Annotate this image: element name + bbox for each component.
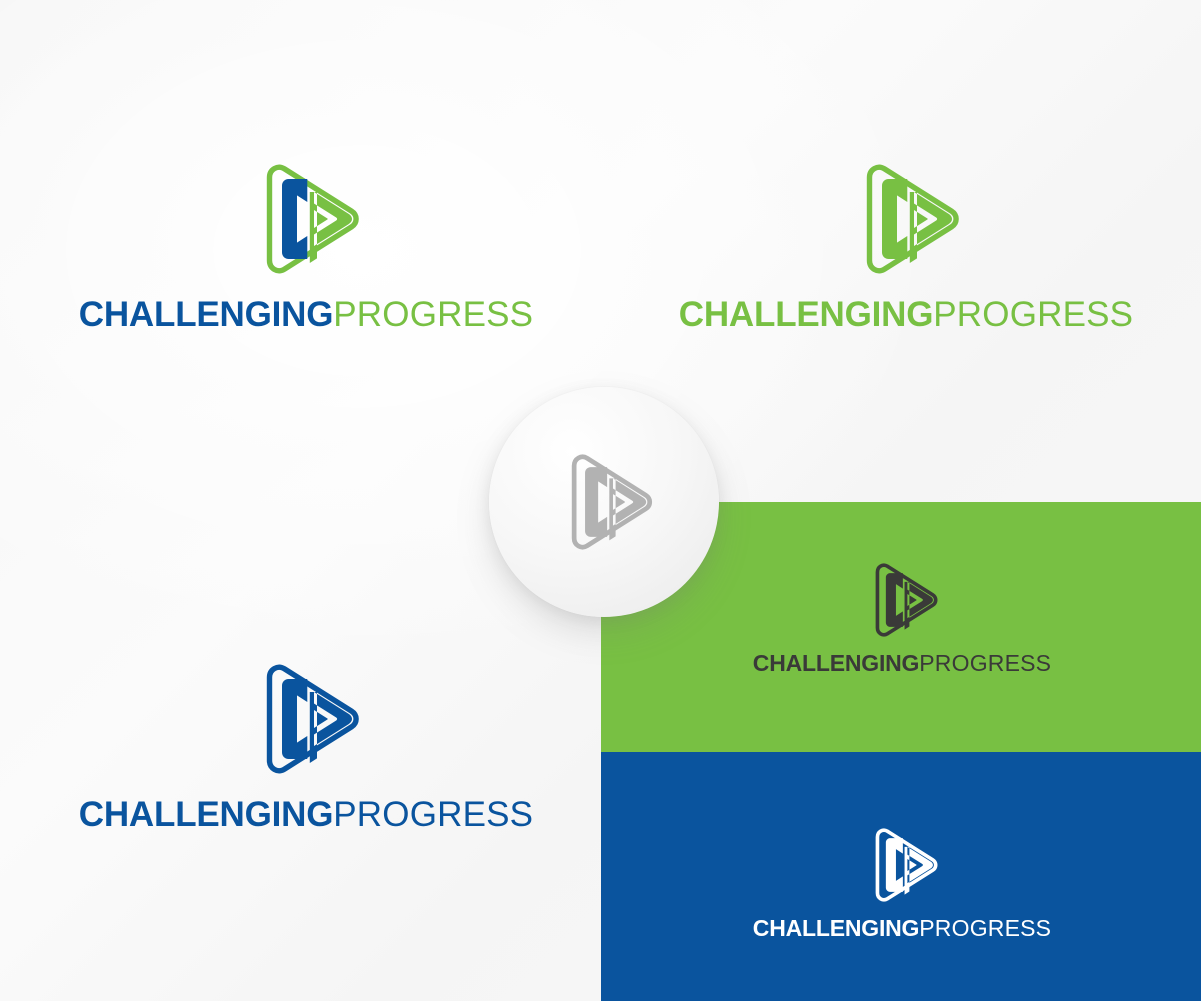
wordmark-bold: CHALLENGING bbox=[753, 650, 919, 676]
wordmark: CHALLENGINGPROGRESS bbox=[753, 652, 1051, 675]
play-triangle-cp-monogram-icon bbox=[251, 663, 361, 775]
wordmark-light: PROGRESS bbox=[919, 915, 1051, 941]
logo-variant-grey-badge bbox=[489, 387, 719, 617]
wordmark: CHALLENGINGPROGRESS bbox=[679, 297, 1133, 332]
logo-presentation-canvas: CHALLENGINGPROGRESS CHALLENGINGPROGRESS … bbox=[0, 0, 1201, 1001]
logo-variant-blue-mono: CHALLENGINGPROGRESS bbox=[104, 663, 508, 832]
play-triangle-cp-monogram-icon bbox=[251, 163, 361, 275]
wordmark-bold: CHALLENGING bbox=[753, 915, 919, 941]
wordmark-light: PROGRESS bbox=[933, 295, 1133, 334]
wordmark-light: PROGRESS bbox=[333, 795, 533, 834]
wordmark-bold: CHALLENGING bbox=[79, 295, 333, 334]
logo-variant-dark-on-green: CHALLENGINGPROGRESS bbox=[768, 562, 1036, 675]
logo-variant-white-on-blue: CHALLENGINGPROGRESS bbox=[768, 827, 1036, 940]
wordmark-bold: CHALLENGING bbox=[679, 295, 933, 334]
play-triangle-cp-monogram-icon bbox=[865, 562, 939, 638]
logo-variant-green-mono: CHALLENGINGPROGRESS bbox=[704, 163, 1108, 332]
wordmark: CHALLENGINGPROGRESS bbox=[79, 797, 533, 832]
logo-variant-primary: CHALLENGINGPROGRESS bbox=[104, 163, 508, 332]
play-triangle-cp-monogram-icon bbox=[558, 453, 654, 551]
wordmark-bold: CHALLENGING bbox=[79, 795, 333, 834]
wordmark: CHALLENGINGPROGRESS bbox=[79, 297, 533, 332]
play-triangle-cp-monogram-icon bbox=[865, 827, 939, 903]
wordmark-light: PROGRESS bbox=[333, 295, 533, 334]
wordmark-light: PROGRESS bbox=[919, 650, 1051, 676]
play-triangle-cp-monogram-icon bbox=[851, 163, 961, 275]
wordmark: CHALLENGINGPROGRESS bbox=[753, 917, 1051, 940]
